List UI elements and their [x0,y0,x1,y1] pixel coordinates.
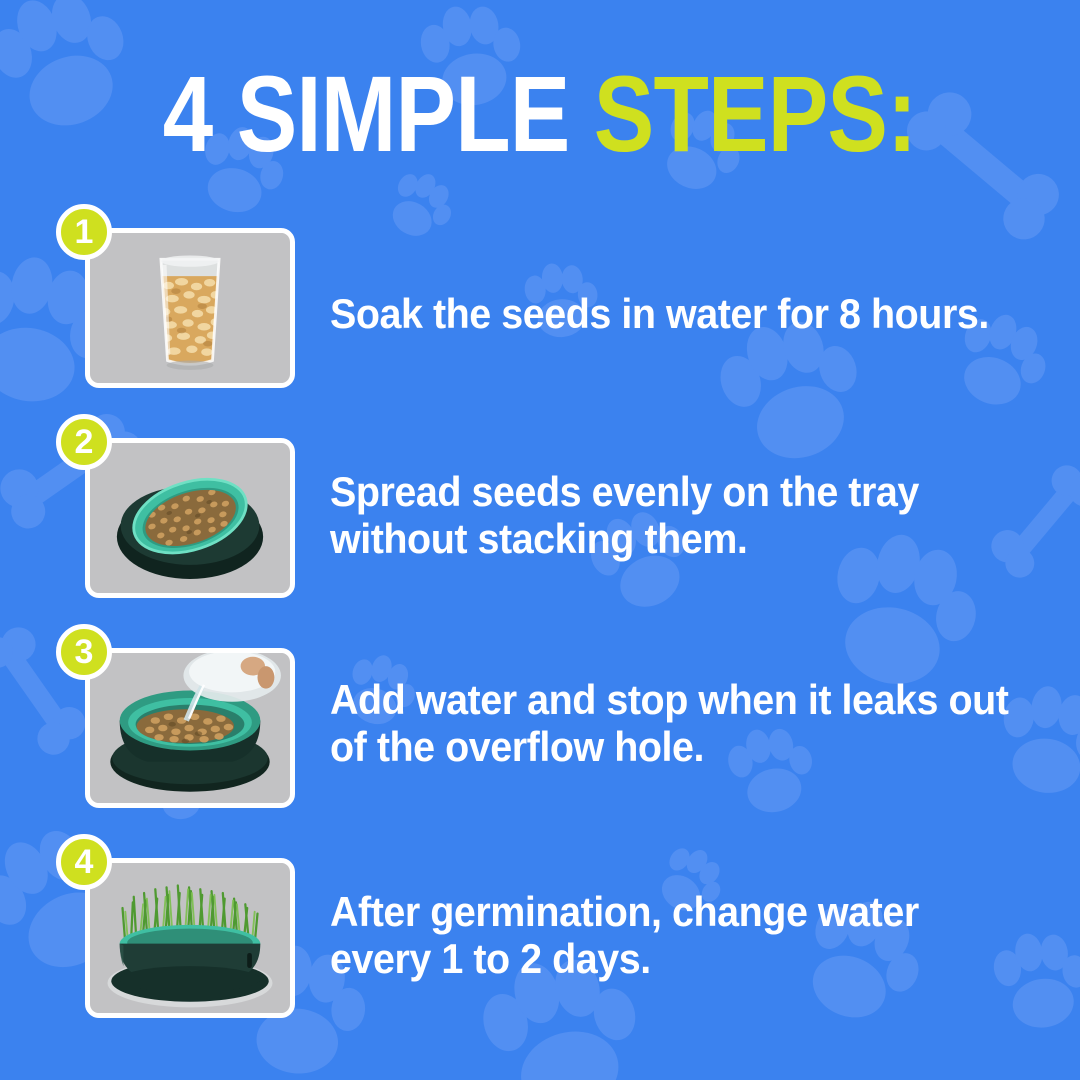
pouring-water-into-tray-image [90,653,290,803]
step-description-4: After germination, change water every 1 … [330,888,988,982]
step-image-card-4 [85,858,295,1018]
title-part-accent: STEPS: [594,53,917,174]
infographic-poster: 4 SIMPLE STEPS: [0,0,1080,1080]
step-image-card-1 [85,228,295,388]
step-description-1: Soak the seeds in water for 8 hours. [330,290,988,337]
step-image-card-2 [85,438,295,598]
glass-of-soaking-seeds-image [90,233,290,383]
page-title: 4 SIMPLE STEPS: [0,60,1080,168]
step-number-badge-2: 2 [56,414,112,470]
title-part-white: 4 SIMPLE [163,53,594,174]
tray-with-grown-grass-image [90,863,290,1013]
tray-with-spread-seeds-image [90,443,290,593]
step-description-3: Add water and stop when it leaks out of … [330,676,988,770]
step-number-badge-4: 4 [56,834,112,890]
step-image-card-3 [85,648,295,808]
step-description-2: Spread seeds evenly on the tray without … [330,468,988,562]
step-number-badge-3: 3 [56,624,112,680]
step-number-badge-1: 1 [56,204,112,260]
